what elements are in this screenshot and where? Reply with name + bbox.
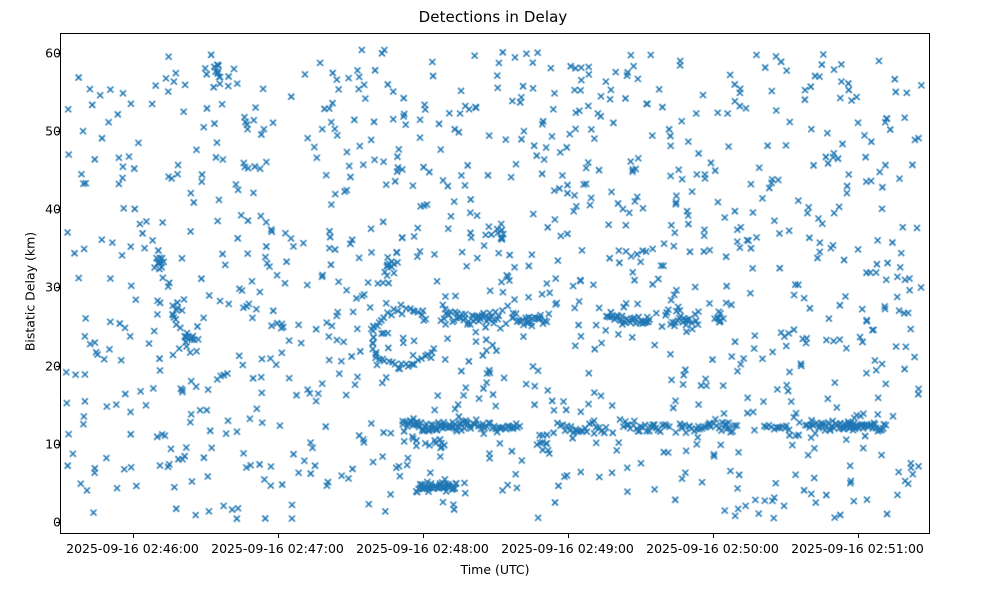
x-tick	[568, 534, 569, 538]
matplotlib-figure: Detections in Delay 0102030405060 2025-0…	[0, 0, 986, 590]
x-tick	[423, 534, 424, 538]
x-axis-label: Time (UTC)	[60, 562, 930, 577]
x-tick	[713, 534, 714, 538]
x-tick-label: 2025-09-16 02:50:00	[646, 541, 779, 556]
chart-title: Detections in Delay	[0, 8, 986, 26]
x-tick-label: 2025-09-16 02:48:00	[356, 541, 489, 556]
x-tick-label: 2025-09-16 02:51:00	[791, 541, 924, 556]
x-tick	[858, 534, 859, 538]
x-tick-label: 2025-09-16 02:49:00	[501, 541, 634, 556]
plot-axes	[60, 33, 930, 534]
y-tick-label: 60	[1, 45, 61, 60]
x-tick	[278, 534, 279, 538]
y-tick-label: 10	[1, 436, 61, 451]
y-axis-label: Bistatic Delay (km)	[23, 162, 38, 422]
x-tick-label: 2025-09-16 02:46:00	[66, 541, 199, 556]
y-tick-label: 50	[1, 123, 61, 138]
y-tick-label: 0	[1, 515, 61, 530]
x-tick	[133, 534, 134, 538]
x-tick-label: 2025-09-16 02:47:00	[211, 541, 344, 556]
scatter-plot-canvas	[61, 34, 929, 533]
